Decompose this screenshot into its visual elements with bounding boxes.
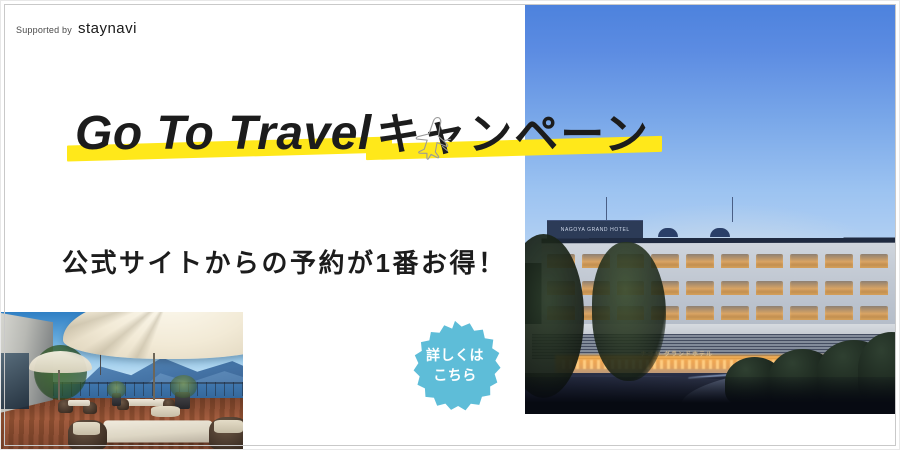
antenna-mast <box>606 197 607 222</box>
window <box>825 306 853 320</box>
patio-table-far <box>126 399 165 406</box>
airplane-doodle-icon <box>406 113 454 165</box>
headline-block: Go To Travel キャンペーン <box>75 95 650 159</box>
chair-cushion <box>151 406 180 417</box>
supported-by-block: Supported by staynavi <box>16 20 137 37</box>
courtyard-tree <box>592 242 666 381</box>
planter-shrub <box>170 375 197 397</box>
glass-window <box>0 353 29 408</box>
lakeside-terrace-photo <box>0 312 243 450</box>
badge-text-block: 詳しくは こちら <box>409 319 501 411</box>
window <box>721 254 749 268</box>
badge-line-2: こちら <box>433 365 477 385</box>
window <box>790 306 818 320</box>
chair-cushion <box>73 422 100 434</box>
window <box>860 281 888 295</box>
window <box>686 281 714 295</box>
parasol-pole <box>153 353 155 400</box>
patio-table-foreground <box>100 420 217 442</box>
foreground-shadow <box>525 377 895 414</box>
window <box>790 254 818 268</box>
go-to-travel-banner: NAGOYA GRAND HOTEL <box>0 0 900 450</box>
hotel-exterior-dusk-photo: NAGOYA GRAND HOTEL <box>525 5 895 414</box>
staynavi-logo: staynavi <box>78 20 137 37</box>
window <box>686 306 714 320</box>
window <box>756 254 784 268</box>
parasol-small-pole <box>58 370 60 400</box>
antenna-mast <box>732 197 733 222</box>
window <box>790 281 818 295</box>
window <box>686 254 714 268</box>
badge-line-1: 詳しくは <box>426 345 484 365</box>
headline-english: Go To Travel <box>75 109 372 159</box>
hotel-roof-sign: NAGOYA GRAND HOTEL <box>547 220 643 240</box>
window <box>721 306 749 320</box>
window <box>860 254 888 268</box>
window <box>756 306 784 320</box>
window <box>756 281 784 295</box>
chair-cushion <box>214 420 243 434</box>
window <box>825 254 853 268</box>
parasol-ribs <box>63 312 243 359</box>
window <box>825 281 853 295</box>
details-badge-button[interactable]: 詳しくは こちら <box>409 319 501 411</box>
window <box>721 281 749 295</box>
subtitle-text: 公式サイトからの予約が1番お得！ <box>62 243 506 280</box>
headline-english-text: Go To Travel <box>75 109 372 159</box>
window <box>860 306 888 320</box>
supported-by-label: Supported by <box>16 25 72 35</box>
planter-shrub <box>107 381 126 398</box>
patio-table-far <box>68 400 90 406</box>
